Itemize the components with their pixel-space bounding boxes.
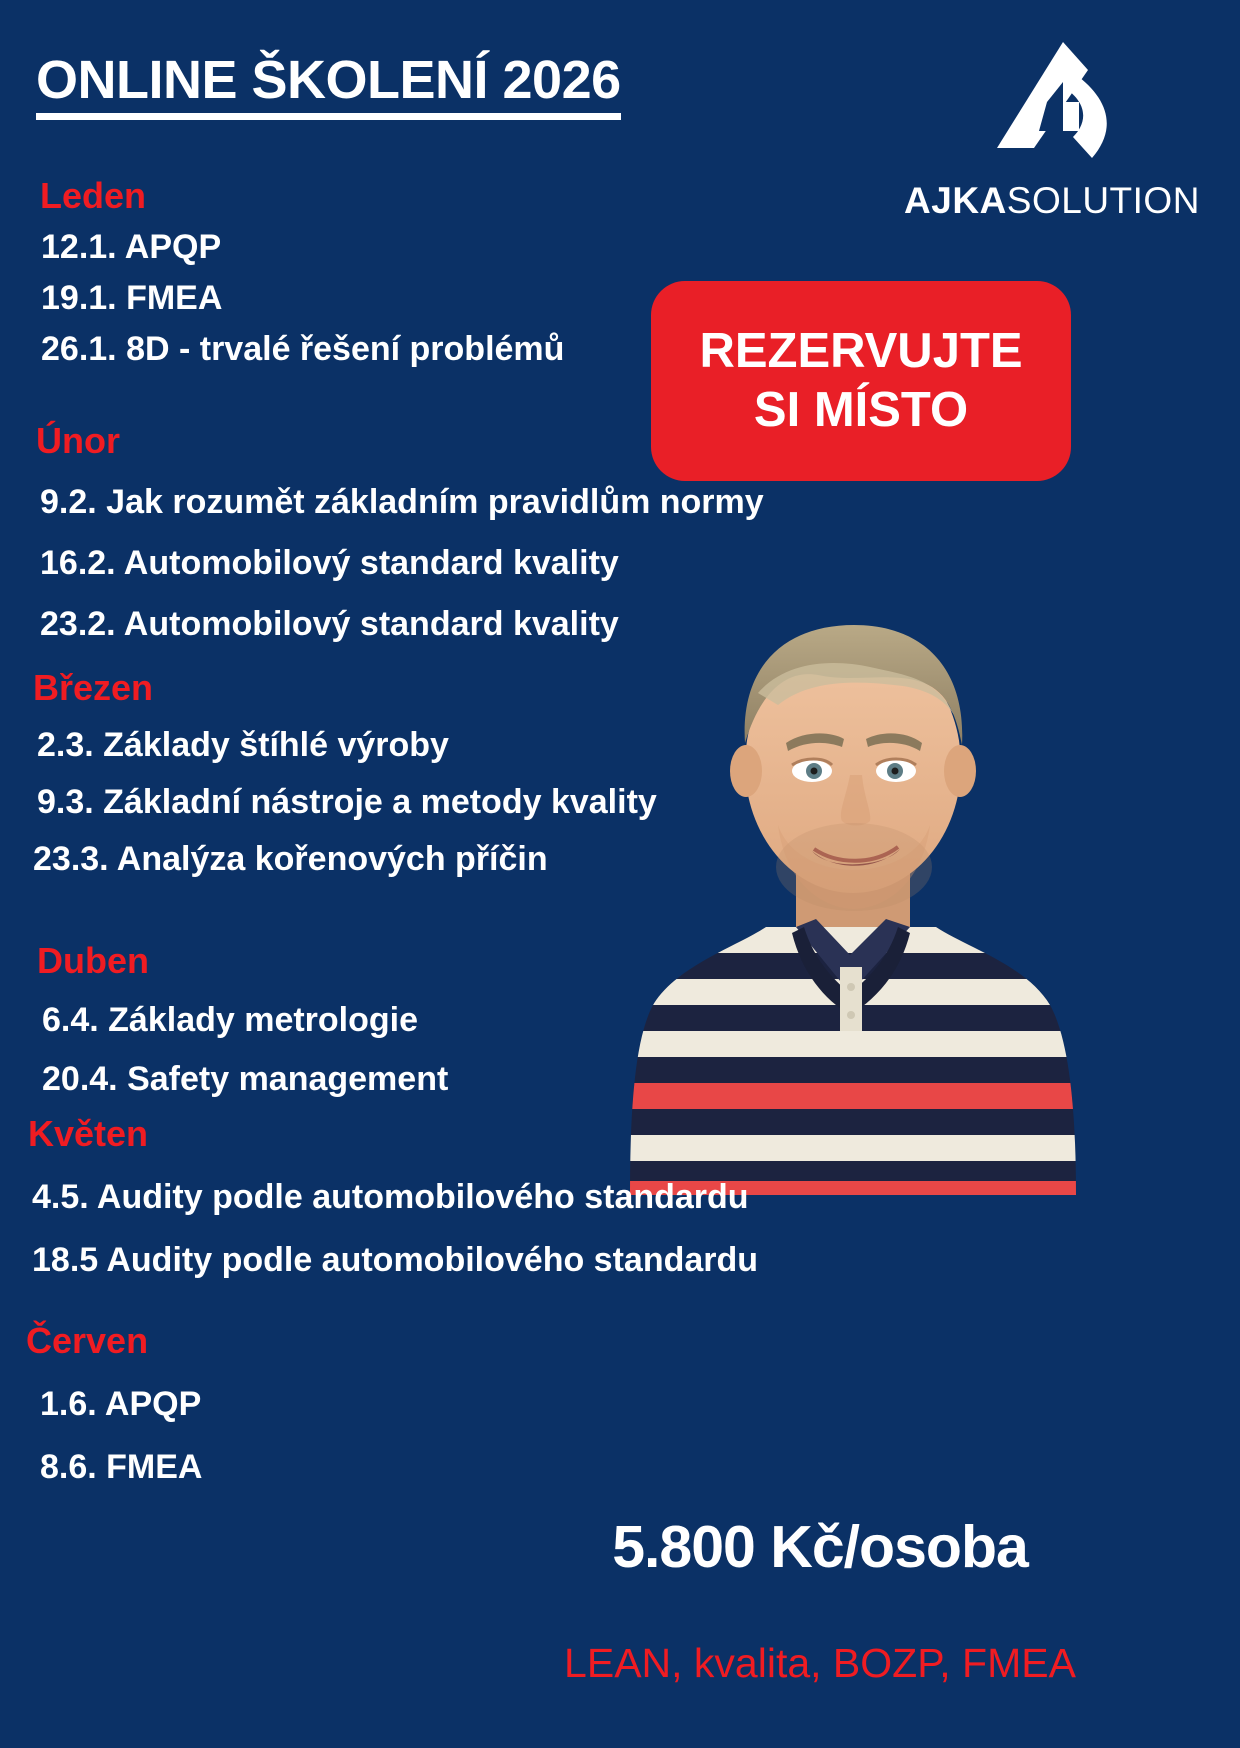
month-label-duben: Duben xyxy=(37,940,448,982)
cta-line-2: SI MÍSTO xyxy=(754,384,968,437)
schedule-entry[interactable]: 26.1. 8D - trvalé řešení problémů xyxy=(40,329,564,370)
month-group-brezen: Březen 2.3. Základy štíhlé výroby 9.3. Z… xyxy=(33,667,657,880)
month-label-unor: Únor xyxy=(36,420,764,462)
schedule-entry[interactable]: 2.3. Základy štíhlé výroby xyxy=(33,725,657,766)
brand-logo: AJKASOLUTION xyxy=(902,36,1202,219)
brand-logotype: AJKASOLUTION xyxy=(902,182,1202,219)
brand-name-bold: AJKA xyxy=(904,180,1007,221)
schedule-entry[interactable]: 8.6. FMEA xyxy=(26,1447,202,1488)
month-label-cerven: Červen xyxy=(26,1320,202,1362)
cta-line-1: REZERVUJTE xyxy=(699,325,1022,378)
brand-name-light: SOLUTION xyxy=(1007,180,1200,221)
price-label: 5.800 Kč/osoba xyxy=(520,1513,1120,1581)
schedule-entry[interactable]: 6.4. Základy metrologie xyxy=(37,1000,448,1041)
schedule-entry[interactable]: 23.2. Automobilový standard kvality xyxy=(36,604,764,645)
schedule-entry[interactable]: 12.1. APQP xyxy=(40,227,564,268)
schedule-entry[interactable]: 9.3. Základní nástroje a metody kvality xyxy=(33,782,657,823)
schedule-entry[interactable]: 16.2. Automobilový standard kvality xyxy=(36,543,764,584)
month-label-leden: Leden xyxy=(40,175,564,217)
ajka-a-drop-logo-icon xyxy=(977,36,1127,176)
instructor-photo xyxy=(618,575,1088,1195)
month-group-leden: Leden 12.1. APQP 19.1. FMEA 26.1. 8D - t… xyxy=(40,175,564,370)
month-group-unor: Únor 9.2. Jak rozumět základním pravidlů… xyxy=(36,420,764,645)
topics-tagline: LEAN, kvalita, BOZP, FMEA xyxy=(520,1640,1120,1687)
month-group-kveten: Květen 4.5. Audity podle automobilového … xyxy=(28,1113,758,1281)
page-title: ONLINE ŠKOLENÍ 2026 xyxy=(36,52,621,120)
smiling-man-striped-polo-portrait-icon xyxy=(618,575,1088,1195)
schedule-entry[interactable]: 23.3. Analýza kořenových příčin xyxy=(33,839,657,880)
month-label-brezen: Březen xyxy=(33,667,657,709)
schedule-entry[interactable]: 18.5 Audity podle automobilového standar… xyxy=(28,1240,758,1281)
schedule-entry[interactable]: 4.5. Audity podle automobilového standar… xyxy=(28,1177,758,1218)
month-label-kveten: Květen xyxy=(28,1113,758,1155)
poster-root: ONLINE ŠKOLENÍ 2026 AJKASOLUTION REZERVU… xyxy=(0,0,1240,1748)
schedule-entry[interactable]: 20.4. Safety management xyxy=(37,1059,448,1100)
month-group-duben: Duben 6.4. Základy metrologie 20.4. Safe… xyxy=(37,940,448,1100)
month-group-cerven: Červen 1.6. APQP 8.6. FMEA xyxy=(26,1320,202,1488)
schedule-entry[interactable]: 1.6. APQP xyxy=(26,1384,202,1425)
schedule-entry[interactable]: 9.2. Jak rozumět základním pravidlům nor… xyxy=(36,482,764,523)
schedule-entry[interactable]: 19.1. FMEA xyxy=(40,278,564,319)
